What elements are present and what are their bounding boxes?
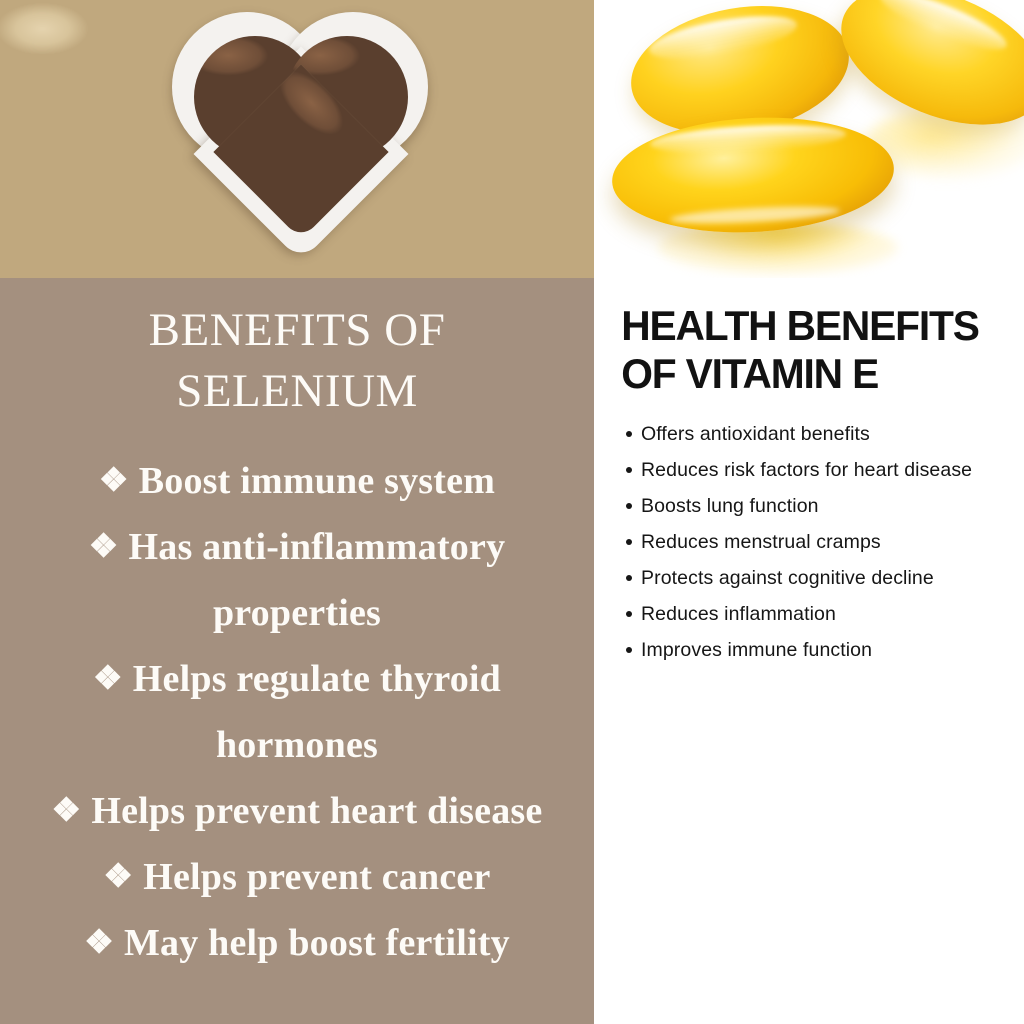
dot-bullet-icon (626, 575, 632, 581)
diamond-bullet-icon: ❖ (52, 778, 82, 844)
list-item-label: Boost immune system (139, 460, 495, 502)
capsule-highlight (646, 8, 800, 68)
vitamin-e-softgel-capsules-photo (596, 0, 1024, 278)
diamond-bullet-icon: ❖ (84, 910, 114, 976)
list-item: Reduces menstrual cramps (626, 524, 1014, 560)
list-item: Protects against cognitive decline (626, 560, 1014, 596)
selenium-title-line-1: BENEFITS OF (149, 304, 446, 356)
selenium-benefits-panel: BENEFITS OF SELENIUM ❖Boost immune syste… (0, 278, 594, 1024)
list-item-label: Reduces risk factors for heart disease (641, 459, 972, 481)
list-item-label: Reduces menstrual cramps (641, 531, 881, 553)
list-item-label: Boosts lung function (641, 495, 819, 517)
list-item-label: Protects against cognitive decline (641, 567, 934, 589)
list-item: ❖Has anti-inflammatory properties (14, 514, 580, 646)
dot-bullet-icon (626, 539, 632, 545)
list-item-label: Improves immune function (641, 639, 872, 661)
vitamin-e-title-line-2: OF VITAMIN E (621, 350, 878, 397)
diamond-bullet-icon: ❖ (93, 646, 123, 712)
selenium-panel-title: BENEFITS OF SELENIUM (0, 278, 594, 422)
list-item: Reduces inflammation (626, 596, 1014, 632)
dot-bullet-icon (626, 503, 632, 509)
list-item-label: Helps prevent heart disease (91, 790, 542, 832)
capsule-lower-highlight (670, 204, 840, 227)
list-item-label: Helps regulate thyroid hormones (133, 658, 501, 766)
capsule-highlight (875, 0, 1012, 60)
infographic-canvas: BENEFITS OF SELENIUM ❖Boost immune syste… (0, 0, 1024, 1024)
diamond-bullet-icon: ❖ (99, 448, 129, 514)
vitamin-e-benefits-list: Offers antioxidant benefits Reduces risk… (596, 416, 1024, 668)
brazil-nuts-in-heart-dish-photo (0, 0, 594, 278)
list-item: ❖May help boost fertility (14, 910, 580, 976)
diamond-bullet-icon: ❖ (89, 514, 119, 580)
list-item: ❖Helps regulate thyroid hormones (14, 646, 580, 778)
list-item-label: Helps prevent cancer (143, 856, 490, 898)
nuts-inside-dish (194, 32, 408, 246)
list-item: ❖Boost immune system (14, 448, 580, 514)
diamond-bullet-icon: ❖ (103, 844, 133, 910)
list-item-label: Reduces inflammation (641, 603, 836, 625)
vitamin-e-panel-title: HEALTH BENEFITS OF VITAMIN E (596, 278, 1011, 398)
list-item: Offers antioxidant benefits (626, 416, 1014, 452)
list-item-label: Offers antioxidant benefits (641, 423, 870, 445)
selenium-title-line-2: SELENIUM (176, 365, 418, 417)
vitamin-e-benefits-panel: HEALTH BENEFITS OF VITAMIN E Offers anti… (596, 278, 1024, 1024)
list-item: Boosts lung function (626, 488, 1014, 524)
dot-bullet-icon (626, 431, 632, 437)
list-item-label: May help boost fertility (124, 922, 510, 964)
list-item: ❖Helps prevent heart disease (14, 778, 580, 844)
selenium-benefits-list: ❖Boost immune system ❖Has anti-inflammat… (0, 448, 594, 976)
vitamin-e-title-line-1: HEALTH BENEFITS (621, 302, 979, 349)
dot-bullet-icon (626, 647, 632, 653)
list-item: ❖Helps prevent cancer (14, 844, 580, 910)
list-item: Improves immune function (626, 632, 1014, 668)
heart-shaped-dish (170, 6, 432, 274)
list-item-label: Has anti-inflammatory properties (129, 526, 506, 634)
softgel-capsule-front (609, 111, 897, 240)
list-item: Reduces risk factors for heart disease (626, 452, 1014, 488)
dot-bullet-icon (626, 467, 632, 473)
dot-bullet-icon (626, 611, 632, 617)
